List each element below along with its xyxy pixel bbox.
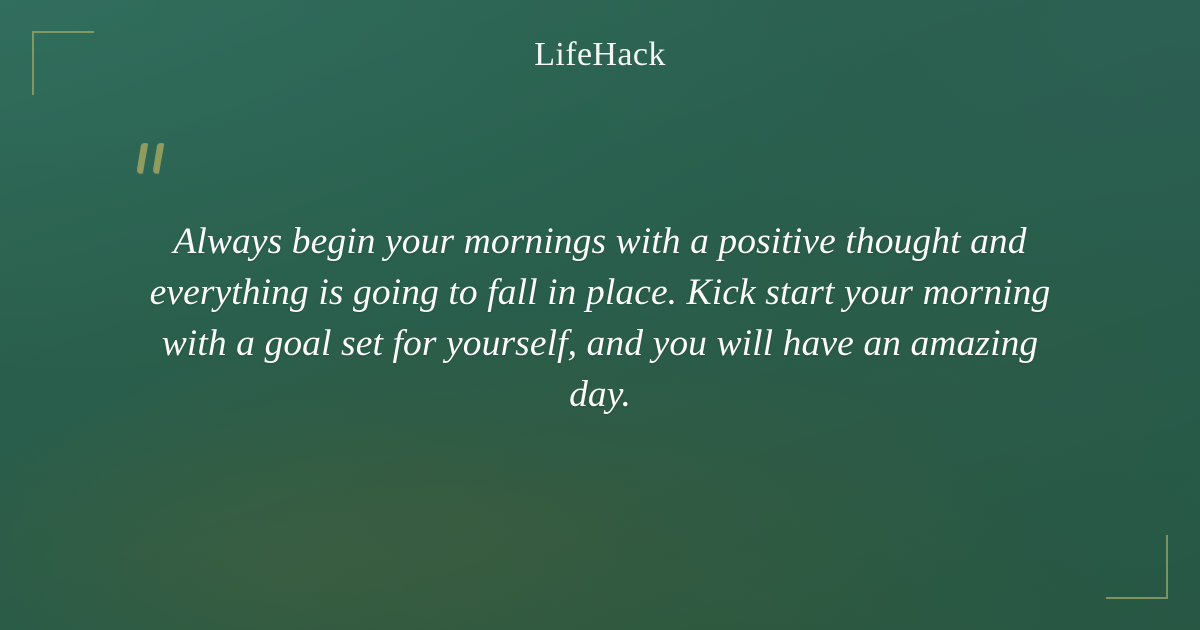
brand-logo-lifehack: LifeHack [0,38,1200,72]
quote-line-2: everything is going to fall in place. Ki… [96,267,1104,318]
quote-card: LifeHack Always begin your mornings with… [0,0,1200,630]
quote-text: Always begin your mornings with a positi… [96,216,1104,420]
quote-line-4: day. [96,369,1104,420]
corner-bracket-bottom-right [1106,535,1168,599]
quote-line-3: with a goal set for yourself, and you wi… [96,318,1104,369]
double-prime-quote-mark-icon [131,140,177,192]
quote-line-1: Always begin your mornings with a positi… [96,216,1104,267]
